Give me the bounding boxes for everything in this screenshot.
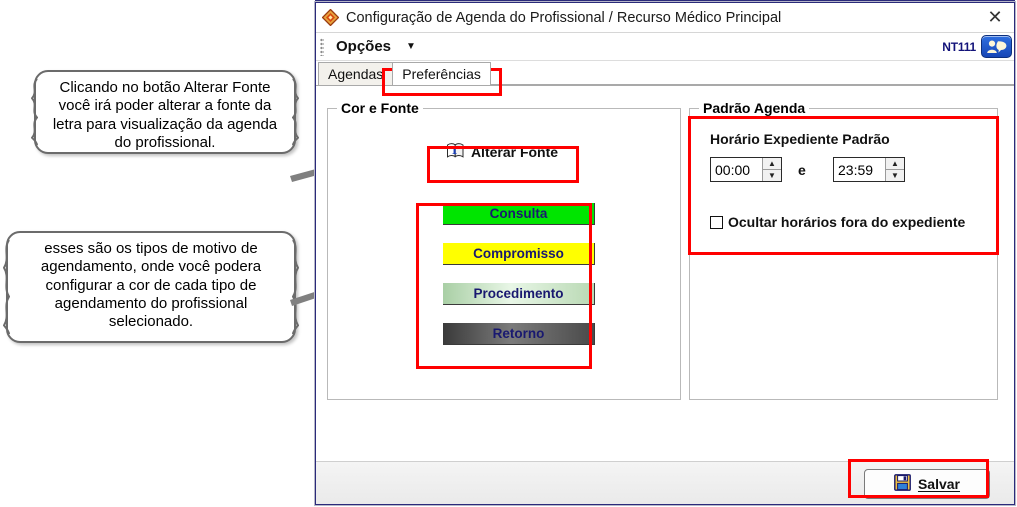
callout-right-edge: [292, 239, 299, 335]
spinner-up-icon[interactable]: ▲: [763, 158, 781, 170]
callout-right-edge: [292, 78, 299, 146]
people-chat-icon[interactable]: [981, 35, 1012, 58]
tab-strip: Agendas Preferências: [316, 61, 1014, 86]
diamond-icon: [322, 9, 339, 26]
annotation-callout-font: Clicando no botão Alterar Fonte você irá…: [34, 70, 296, 154]
callout-left-edge: [31, 78, 38, 146]
groupbox-title-cor-e-fonte: Cor e Fonte: [337, 100, 423, 116]
groupbox-title-padrao-agenda: Padrão Agenda: [699, 100, 809, 116]
alterar-fonte-button[interactable]: T Alterar Fonte: [436, 138, 568, 166]
svg-text:T: T: [450, 144, 459, 157]
tab-agendas[interactable]: Agendas: [318, 62, 393, 85]
annotation-callout-colors: esses são os tipos de motivo de agendame…: [6, 231, 296, 343]
window-title: Configuração de Agenda do Profissional /…: [346, 10, 781, 26]
start-time-spinner[interactable]: 00:00 ▲ ▼: [710, 157, 782, 182]
toolbar: Opções ▼ NT111: [316, 33, 1014, 61]
end-time-spinner[interactable]: 23:59 ▲ ▼: [833, 157, 905, 182]
end-time-arrows[interactable]: ▲ ▼: [885, 158, 904, 181]
annotation-text: esses são os tipos de motivo de agendame…: [41, 240, 261, 330]
floppy-save-icon: [894, 474, 911, 494]
annotation-text: Clicando no botão Alterar Fonte você irá…: [53, 79, 277, 151]
menu-opcoes[interactable]: Opções: [330, 37, 397, 56]
start-time-arrows[interactable]: ▲ ▼: [762, 158, 781, 181]
chevron-down-icon[interactable]: ▼: [401, 39, 421, 54]
callout-left-edge: [3, 239, 10, 335]
tab-strip-filler: [490, 83, 1014, 85]
ocultar-horarios-label: Ocultar horários fora do expediente: [728, 214, 965, 230]
start-time-value[interactable]: 00:00: [711, 158, 762, 181]
tab-content-preferencias: Cor e Fonte T Alterar Fonte Consulta Com…: [316, 86, 1014, 504]
label-horario-expediente: Horário Expediente Padrão: [710, 131, 890, 147]
color-button-retorno[interactable]: Retorno: [443, 323, 595, 345]
color-button-consulta[interactable]: Consulta: [443, 203, 595, 225]
title-bar: Configuração de Agenda do Profissional /…: [316, 3, 1014, 33]
groupbox-cor-e-fonte: Cor e Fonte T Alterar Fonte Consulta Com…: [327, 108, 681, 400]
station-badge: NT111: [942, 40, 981, 54]
save-button-label: Salvar: [918, 476, 960, 492]
ocultar-horarios-checkbox[interactable]: [710, 216, 723, 229]
spinner-down-icon[interactable]: ▼: [763, 170, 781, 181]
label-time-separator: e: [798, 162, 806, 178]
end-time-value[interactable]: 23:59: [834, 158, 885, 181]
spinner-up-icon[interactable]: ▲: [886, 158, 904, 170]
dialog-window: Configuração de Agenda do Profissional /…: [315, 2, 1015, 505]
toolbar-drag-handle[interactable]: [320, 38, 324, 56]
color-button-procedimento[interactable]: Procedimento: [443, 283, 595, 305]
save-accel: Salvar: [918, 476, 960, 492]
close-icon[interactable]: ✕: [982, 7, 1008, 29]
color-button-compromisso[interactable]: Compromisso: [443, 243, 595, 265]
tab-preferencias[interactable]: Preferências: [392, 62, 491, 85]
font-change-icon: T: [446, 142, 465, 162]
alterar-fonte-label: Alterar Fonte: [471, 144, 558, 160]
footer-bar: Salvar: [316, 461, 1014, 504]
ocultar-horarios-checkbox-row[interactable]: Ocultar horários fora do expediente: [710, 214, 965, 230]
save-button[interactable]: Salvar: [864, 469, 990, 499]
groupbox-padrao-agenda: Padrão Agenda Horário Expediente Padrão …: [689, 108, 998, 400]
spinner-down-icon[interactable]: ▼: [886, 170, 904, 181]
